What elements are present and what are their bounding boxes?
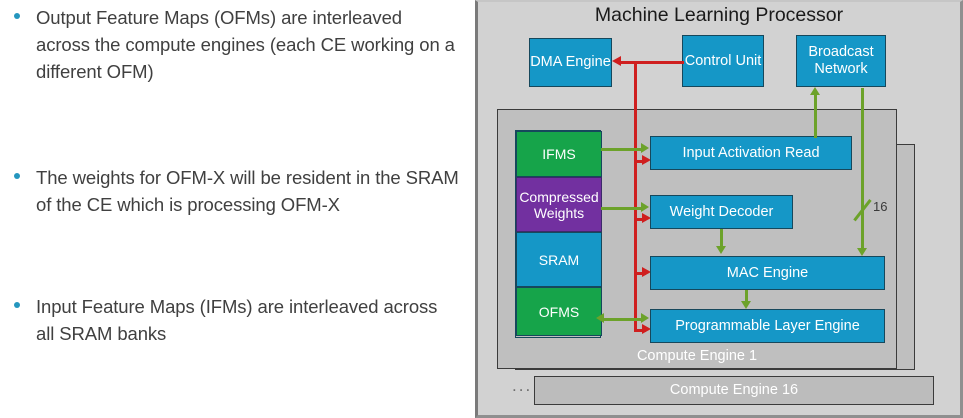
mac-engine-node[interactable]: MAC Engine [650,256,885,290]
broadcast-to-mac-line [861,88,864,251]
slide: Output Feature Maps (OFMs) are interleav… [0,0,963,418]
control-unit-node[interactable]: Control Unit [682,35,764,87]
bullet-dot-icon [14,13,20,19]
ofms-to-ple-arrow [641,313,649,323]
ofms-block[interactable]: OFMS [516,287,602,336]
wd-to-mac-arrow [716,246,726,254]
ofms-ple-line [601,318,644,321]
control-bus-vertical [634,61,637,329]
programmable-layer-engine-node[interactable]: Programmable Layer Engine [650,309,885,343]
bullet-text: The weights for OFM-X will be resident i… [36,164,460,218]
bullet-text: Output Feature Maps (OFMs) are interleav… [36,4,460,85]
list-item: Output Feature Maps (OFMs) are interleav… [10,4,460,85]
bullet-dot-icon [14,173,20,179]
list-item: Input Feature Maps (IFMs) are interleave… [10,293,460,347]
cw-to-wd-arrow [641,202,649,212]
ml-processor-diagram: Machine Learning Processor Compute Engin… [475,0,963,418]
ellipsis-label: ... [512,379,532,393]
bullet-text: Input Feature Maps (IFMs) are interleave… [36,293,460,347]
iar-to-broadcast-arrow [810,87,820,95]
compute-engine-16-panel: Compute Engine 16 [534,376,934,405]
memory-stack: IFMS Compressed Weights SRAM OFMS [515,130,601,338]
control-to-dma-arrow [612,56,621,66]
list-item: The weights for OFM-X will be resident i… [10,164,460,218]
compute-engine-1-label: Compute Engine 1 [498,348,896,364]
broadcast-to-mac-arrow [857,248,867,256]
bullet-dot-icon [14,302,20,308]
bus-width-label: 16 [873,199,887,214]
ple-to-ofms-arrow [596,313,604,323]
mac-to-ple-arrow [741,301,751,309]
ifms-to-iar-line [601,148,644,151]
broadcast-network-node[interactable]: Broadcast Network [796,35,886,87]
bullet-list: Output Feature Maps (OFMs) are interleav… [0,0,470,418]
weight-decoder-node[interactable]: Weight Decoder [650,195,793,229]
iar-to-broadcast-line [814,95,817,138]
sram-block[interactable]: SRAM [516,232,602,287]
input-activation-read-node[interactable]: Input Activation Read [650,136,852,170]
ifms-to-iar-arrow [641,143,649,153]
ifms-block[interactable]: IFMS [516,131,602,177]
compute-engine-16-label: Compute Engine 16 [535,382,933,398]
cw-to-wd-line [601,207,644,210]
compressed-weights-block[interactable]: Compressed Weights [516,177,602,232]
dma-engine-node[interactable]: DMA Engine [529,38,612,87]
diagram-title: Machine Learning Processor [478,4,960,27]
control-to-dma-line [621,61,684,64]
